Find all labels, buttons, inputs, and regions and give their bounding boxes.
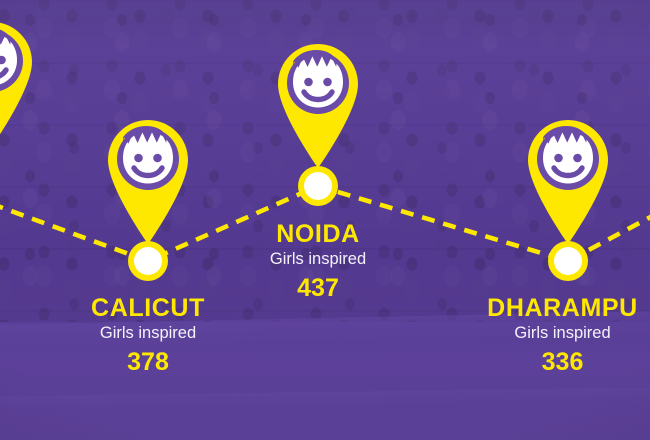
- map-pin-mumbai[interactable]: [0, 14, 40, 148]
- route-node-calicut[interactable]: [134, 247, 162, 275]
- location-value-calicut: 378: [48, 349, 248, 377]
- map-pin-noida[interactable]: [270, 36, 366, 170]
- map-pin-smiley-icon: [0, 14, 40, 148]
- location-sub-noida: Girls inspired: [218, 249, 418, 270]
- location-sub-mumbai: ed: [0, 252, 44, 273]
- map-pin-calicut[interactable]: [100, 112, 196, 246]
- location-value-dharampur: 336: [455, 349, 650, 377]
- location-label-dharampur: DHARAMPU Girls inspired 336: [455, 295, 650, 376]
- map-pin-smiley-icon: [520, 112, 616, 246]
- map-pin-smiley-icon: [100, 112, 196, 246]
- location-sub-dharampur: Girls inspired: [455, 323, 650, 344]
- location-sub-calicut: Girls inspired: [48, 323, 248, 344]
- location-value-noida: 437: [218, 275, 418, 303]
- map-pin-dharampur[interactable]: [520, 112, 616, 246]
- map-pin-smiley-icon: [270, 36, 366, 170]
- route-node-noida[interactable]: [304, 172, 332, 200]
- location-name-dharampur: DHARAMPU: [455, 295, 650, 321]
- location-label-calicut: CALICUT Girls inspired 378: [48, 295, 248, 376]
- location-name-noida: NOIDA: [218, 221, 418, 247]
- location-label-noida: NOIDA Girls inspired 437: [218, 221, 418, 302]
- location-label-mumbai: BAI ed: [0, 224, 44, 273]
- location-name-mumbai: BAI: [0, 224, 44, 250]
- infographic-canvas: BAI ed CALICUT Girls inspired 378 NOIDA …: [0, 0, 650, 440]
- route-node-dharampur[interactable]: [554, 247, 582, 275]
